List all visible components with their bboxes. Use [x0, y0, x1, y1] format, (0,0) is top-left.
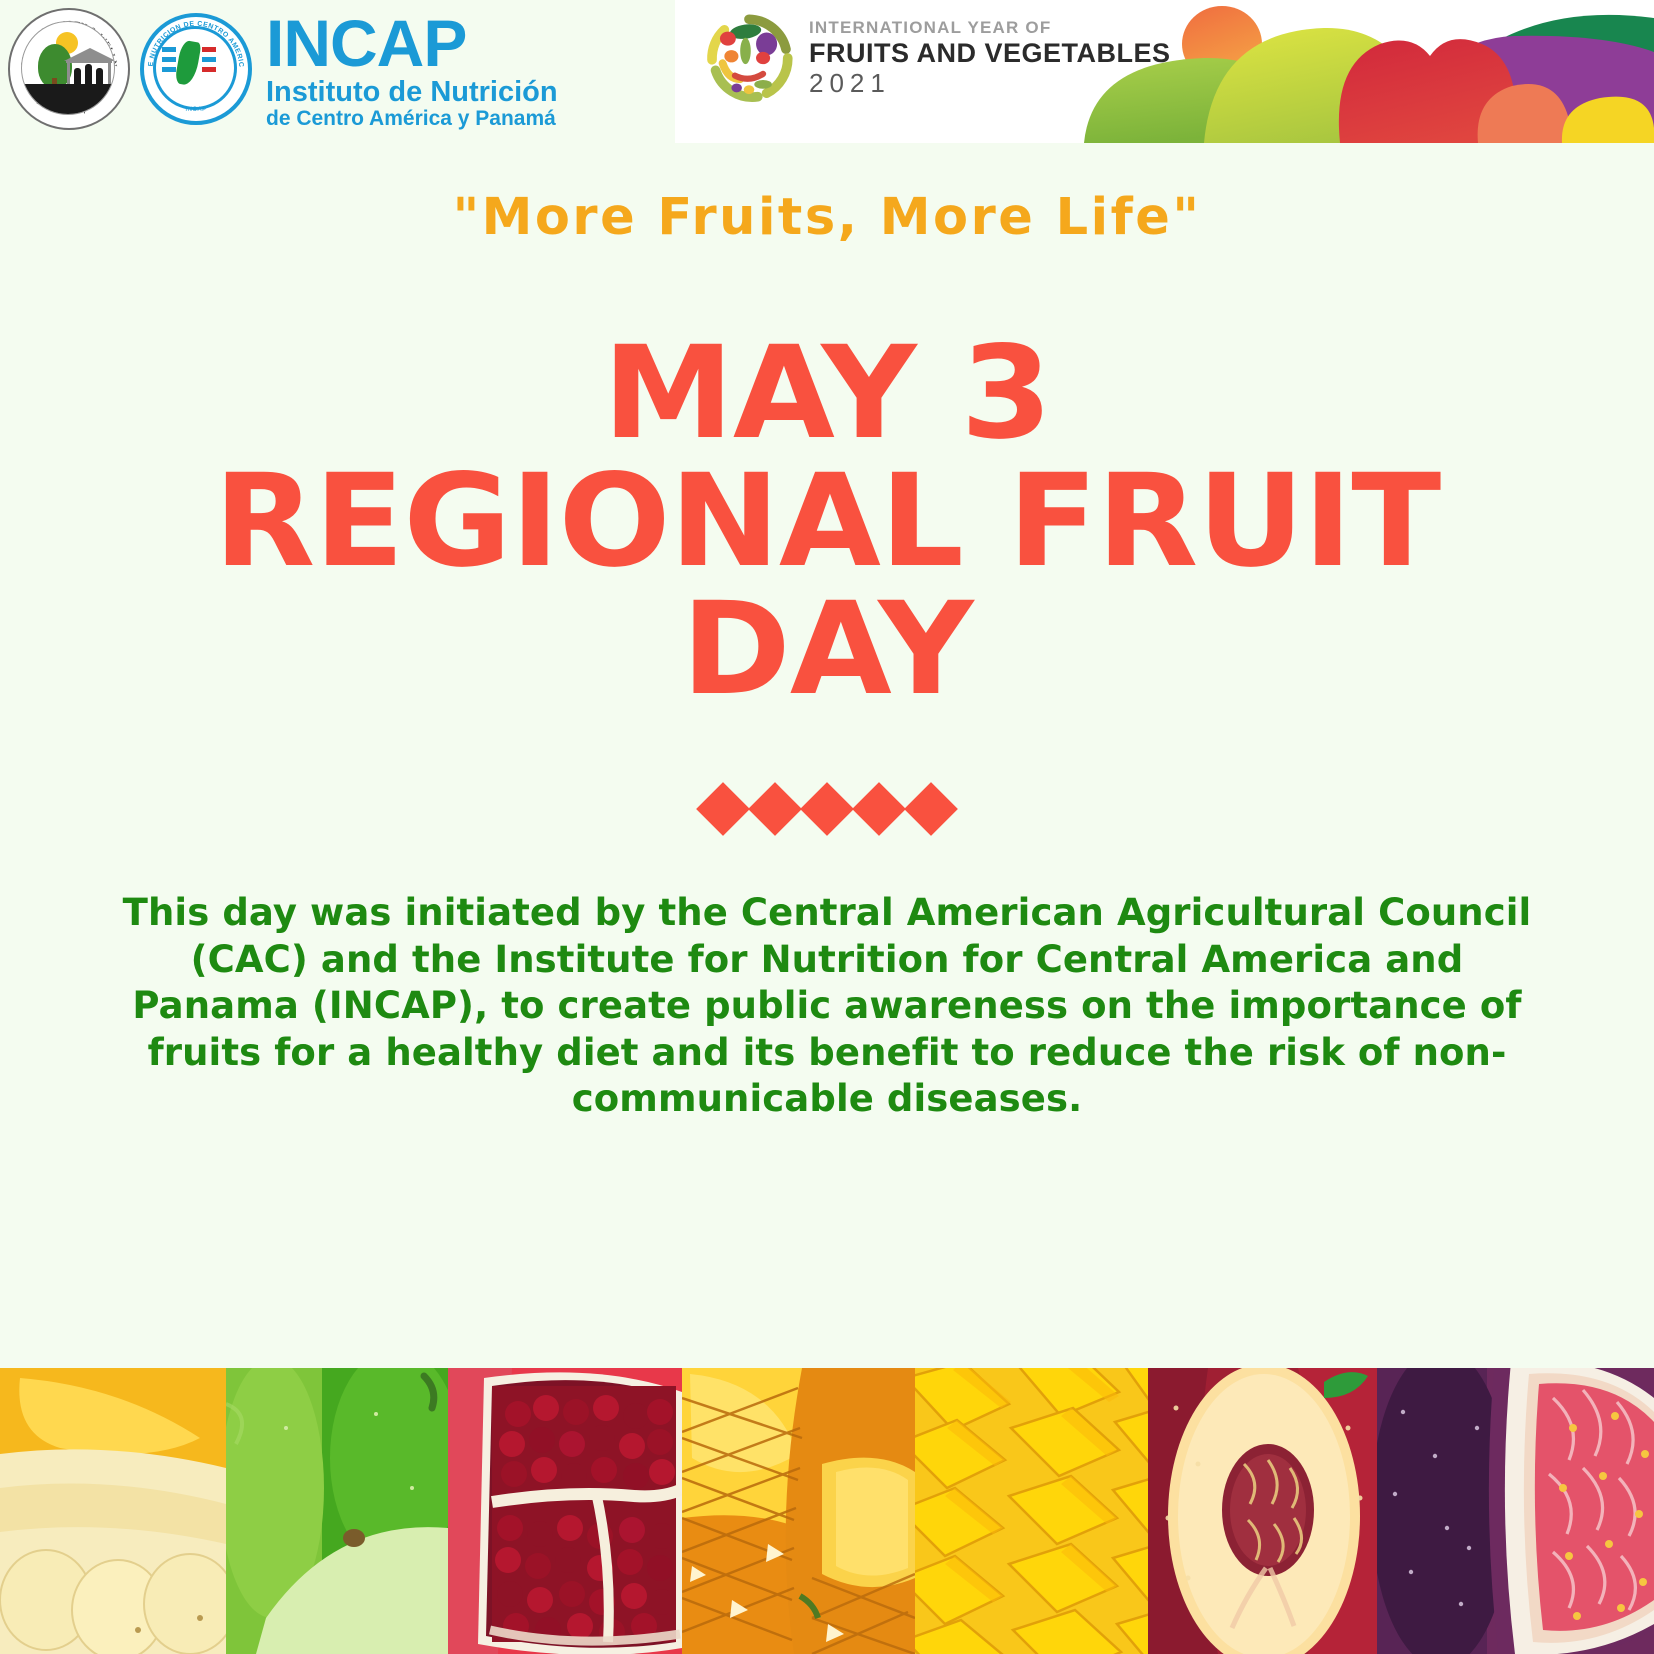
incap-subtitle-line2: de Centro América y Panamá: [266, 108, 558, 129]
fruit-photo-strip: [0, 1368, 1654, 1654]
incap-wordmark: INCAP Instituto de Nutrición de Centro A…: [266, 10, 558, 129]
tagline: "More Fruits, More Life": [0, 188, 1654, 247]
description-paragraph: This day was initiated by the Central Am…: [110, 890, 1544, 1123]
hut-beam: [66, 60, 112, 63]
flag-bar: [202, 67, 216, 72]
pineapple-photo: [682, 1368, 915, 1654]
pomegranate-photo: [448, 1368, 682, 1654]
incap-seal-icon: INSTITUTO DE NUTRICION DE CENTRO AMERICA…: [140, 13, 252, 125]
flag-bar: [202, 47, 216, 52]
diamond-icon: [904, 782, 958, 836]
ground-band: [22, 84, 114, 114]
headline-line-2: REGIONAL FRUIT: [37, 458, 1617, 586]
headline-line-1: MAY 3: [37, 330, 1617, 458]
iyfv-banner: INTERNATIONAL YEAR OF FRUITS AND VEGETAB…: [675, 0, 1654, 143]
hut-post-right: [108, 60, 111, 86]
logo-row: MINISTRY of HEALTH & WELLNESS equal heal…: [8, 8, 558, 130]
mango-photo: [915, 1368, 1148, 1654]
diamond-divider: [0, 790, 1654, 828]
diamond-icon: [852, 782, 906, 836]
green-apple-photo: [226, 1368, 448, 1654]
iyfv-face-mark-icon: [705, 14, 793, 102]
diamond-icon: [748, 782, 802, 836]
flag-bar: [162, 57, 176, 62]
incap-seal-caption: INCAP: [144, 107, 248, 113]
incap-subtitle-line1: Instituto de Nutrición: [266, 78, 558, 107]
incap-wordmark-title: INCAP: [266, 10, 558, 76]
diamond-icon: [800, 782, 854, 836]
flag-bar: [162, 67, 176, 72]
peach-photo: [1148, 1368, 1377, 1654]
header: MINISTRY of HEALTH & WELLNESS equal heal…: [0, 0, 1654, 150]
fruit-blob-graphic: [1044, 0, 1654, 143]
banana-photo: [0, 1368, 226, 1654]
hut-post-left: [67, 60, 70, 86]
ministry-of-health-seal-icon: MINISTRY of HEALTH & WELLNESS equal heal…: [8, 8, 130, 130]
headline-line-3: DAY: [37, 586, 1617, 714]
flag-bar: [202, 57, 216, 62]
fig-photo: [1377, 1368, 1654, 1654]
page-title: MAY 3 REGIONAL FRUIT DAY: [37, 330, 1617, 714]
poster-canvas: MINISTRY of HEALTH & WELLNESS equal heal…: [0, 0, 1654, 1654]
flag-bar: [162, 47, 176, 52]
diamond-icon: [696, 782, 750, 836]
person-icon-2: [85, 64, 92, 86]
seal-vignette: [21, 21, 115, 115]
